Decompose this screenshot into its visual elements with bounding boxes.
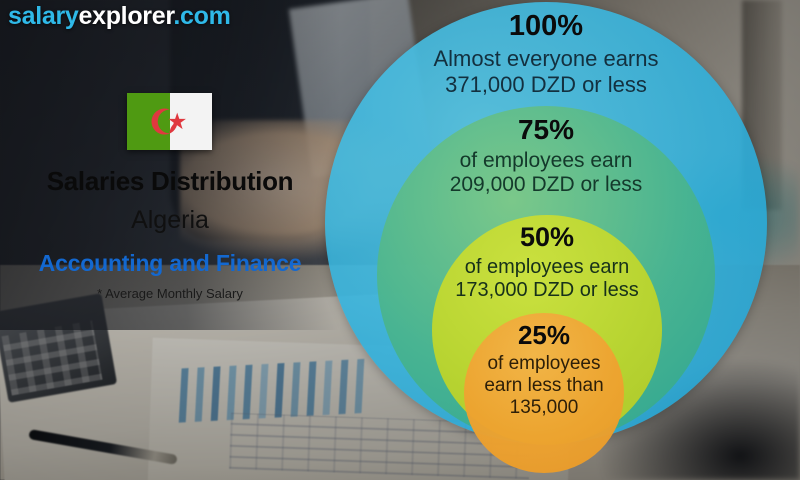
salary-note: * Average Monthly Salary xyxy=(0,286,340,301)
percentile-50-percent: 50% xyxy=(432,215,662,251)
percentile-25-line1: of employees xyxy=(464,353,624,375)
algeria-flag-icon xyxy=(127,93,212,150)
percentile-100-percent: 100% xyxy=(325,2,767,41)
page-title: Salaries Distribution xyxy=(0,166,340,197)
logo-part-explorer: explorer xyxy=(79,2,174,30)
job-category-label: Accounting and Finance xyxy=(0,250,340,277)
percentile-25-percent: 25% xyxy=(464,313,624,348)
percentile-100-line2: 371,000 DZD or less xyxy=(325,72,767,98)
percentile-50-line2: 173,000 DZD or less xyxy=(432,279,662,302)
site-logo[interactable]: salaryexplorer.com xyxy=(8,2,231,31)
percentile-25-text: of employees earn less than 135,000 xyxy=(464,353,624,419)
percentile-50-line1: of employees earn xyxy=(432,256,662,279)
percentile-75-text: of employees earn 209,000 DZD or less xyxy=(377,149,715,198)
percentile-100-line1: Almost everyone earns xyxy=(325,46,767,72)
percentile-circle-25: 25% of employees earn less than 135,000 xyxy=(464,313,624,473)
infographic-root: salaryexplorer.com Salaries Distribution… xyxy=(0,0,800,480)
percentile-75-percent: 75% xyxy=(377,106,715,144)
background-left-fade xyxy=(0,0,340,330)
country-label: Algeria xyxy=(0,206,340,235)
percentile-100-text: Almost everyone earns 371,000 DZD or les… xyxy=(325,46,767,97)
percentile-25-line3: 135,000 xyxy=(464,397,624,419)
flag-crescent-star-icon xyxy=(127,93,212,150)
logo-part-salary: salary xyxy=(8,2,79,30)
logo-part-tld: .com xyxy=(173,2,230,30)
percentile-75-line1: of employees earn xyxy=(377,149,715,173)
percentile-50-text: of employees earn 173,000 DZD or less xyxy=(432,256,662,302)
percentile-75-line2: 209,000 DZD or less xyxy=(377,173,715,197)
percentile-25-line2: earn less than xyxy=(464,375,624,397)
